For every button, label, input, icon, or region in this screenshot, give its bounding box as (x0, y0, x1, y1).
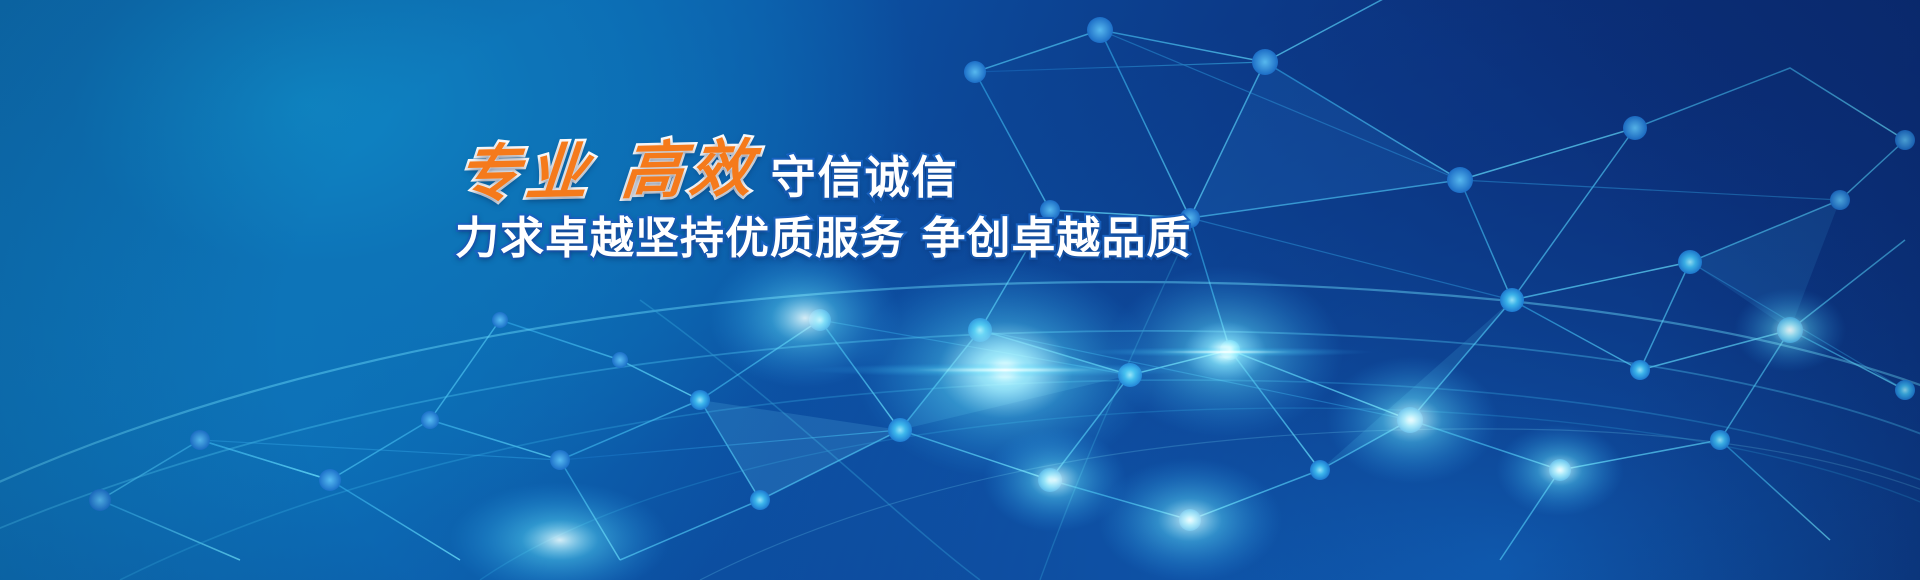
subheadline-text: 力求卓越坚持优质服务 争创卓越品质 (455, 216, 1155, 262)
headline-block: 专业 高效 守信诚信 力求卓越坚持优质服务 争创卓越品质 (455, 128, 1155, 262)
background-vignette (0, 0, 1920, 580)
hero-banner: 专业 高效 守信诚信 力求卓越坚持优质服务 争创卓越品质 (0, 0, 1920, 580)
headline-secondary-text: 守信诚信 (771, 155, 959, 200)
headline-accent-text: 专业 高效 (455, 137, 776, 206)
headline-line-1: 专业 高效 守信诚信 (455, 128, 1155, 206)
